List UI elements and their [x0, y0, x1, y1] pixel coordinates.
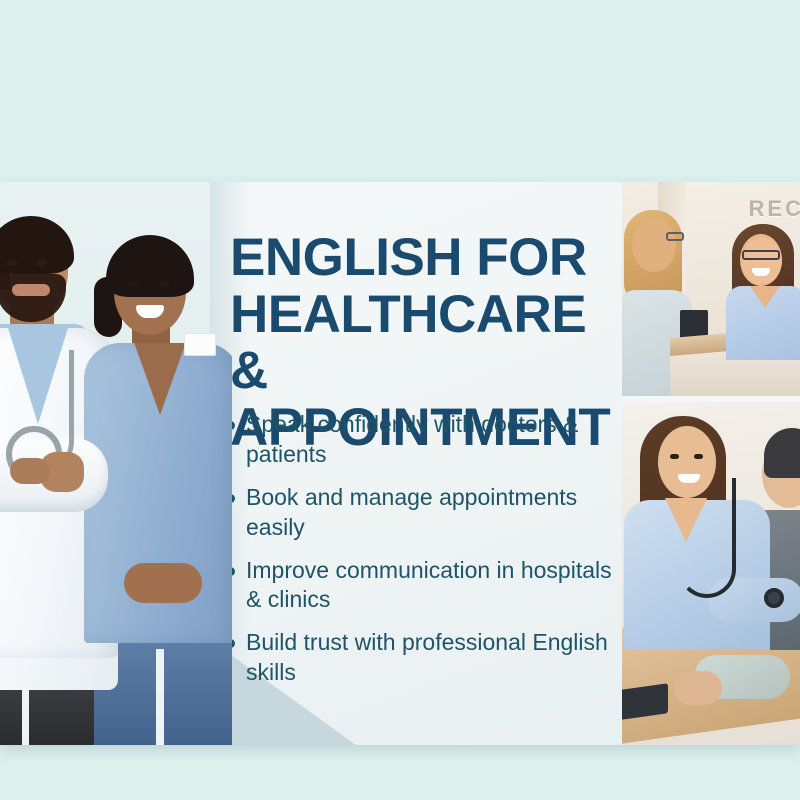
list-item: Improve communication in hospitals & cli…: [218, 556, 618, 616]
nurse-hair: [106, 235, 194, 297]
doctor-woman-eye-right: [694, 454, 703, 459]
text-panel: ENGLISH FOR HEALTHCARE & APPOINTMENT Spe…: [210, 182, 622, 745]
nurse-clasped-hands: [124, 563, 202, 603]
reception-wall-sign: REC: [749, 196, 800, 222]
photo-reception-desk: REC: [622, 182, 800, 396]
nurse-eye-left: [128, 281, 139, 287]
list-item: Book and manage appointments easily: [218, 483, 618, 543]
photo-medical-staff: [0, 182, 232, 745]
patient-head: [632, 218, 676, 272]
doctor-woman-eye-left: [670, 454, 679, 459]
headline-line-2: HEALTHCARE: [230, 287, 622, 344]
receptionist-glasses-icon: [742, 250, 780, 260]
promo-banner: ENGLISH FOR HEALTHCARE & APPOINTMENT Spe…: [0, 182, 800, 745]
doctor-hand: [40, 452, 84, 492]
benefits-list: Speak confidently with doctors & patient…: [218, 410, 618, 701]
receptionist-face: [742, 238, 782, 284]
headline-line-1: ENGLISH FOR: [230, 230, 622, 287]
consult-stethoscope-icon: [678, 478, 736, 598]
list-item: Speak confidently with doctors & patient…: [218, 410, 618, 470]
list-item: Build trust with professional English sk…: [218, 628, 618, 688]
doctor-eye-right: [36, 260, 47, 266]
photo-column-right: REC: [622, 182, 800, 745]
consult-stethoscope-chestpiece-icon: [764, 588, 784, 608]
nurse-eye-right: [158, 281, 169, 287]
seated-patient-hand: [674, 671, 722, 705]
doctor-beard: [0, 274, 66, 322]
photo-consultation: [622, 402, 800, 745]
patient-glasses-icon: [666, 232, 684, 241]
nurse-v-neck: [132, 343, 188, 415]
doctor-eye-left: [6, 260, 17, 266]
nurse-name-badge: [184, 333, 216, 356]
